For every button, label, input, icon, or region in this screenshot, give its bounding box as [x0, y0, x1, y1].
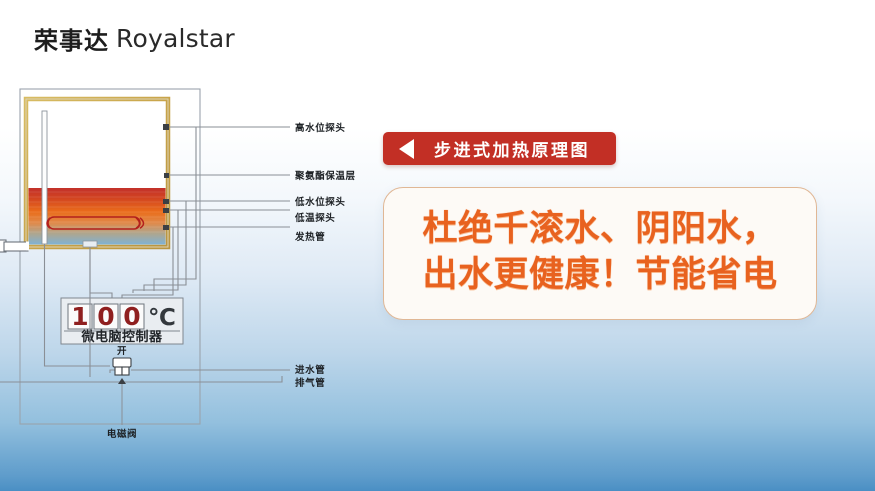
faucet-outlet-pipe	[26, 242, 29, 251]
headline-line-1: 杜绝千滚水、阴阳水，	[400, 207, 800, 253]
heating-principle-diagram: 1 0 0 ℃ 微电脑控制器 开水龙头 高水位探头 聚氨酯保温层 低水位探头 低…	[0, 80, 380, 460]
label-high-level-probe: 高水位探头	[295, 122, 346, 134]
label-heating-tube: 发热管	[294, 231, 325, 243]
ribbon-label: 步进式加热原理图	[434, 136, 590, 161]
high-level-probe-marker	[163, 124, 169, 130]
dip-tube	[42, 111, 47, 244]
brand-logo-en: Royalstar	[116, 24, 235, 53]
controller-module: 1 0 0 ℃ 微电脑控制器	[61, 298, 183, 345]
controller-unit: ℃	[148, 305, 176, 331]
right-panel: 步进式加热原理图 杜绝千滚水、阴阳水， 出水更健康！节能省电	[383, 132, 853, 320]
label-solenoid-valve: 电磁阀	[107, 428, 137, 440]
low-temp-probe-marker	[163, 208, 169, 213]
valve-arrow-up	[118, 378, 126, 384]
wire-drain	[90, 247, 112, 298]
drain-fitting	[83, 241, 97, 247]
triangle-left-icon	[399, 139, 414, 159]
label-valve-open: 开	[117, 346, 127, 357]
controller-digit-3: 0	[123, 302, 140, 331]
insulation-marker	[164, 173, 169, 178]
section-ribbon: 步进式加热原理图	[383, 132, 616, 165]
headline-card: 杜绝千滚水、阴阳水， 出水更健康！节能省电	[383, 187, 817, 320]
brand-logo: 荣事达 Royalstar	[34, 21, 235, 56]
label-insulation: 聚氨酯保温层	[294, 170, 356, 182]
controller-caption: 微电脑控制器	[80, 329, 163, 345]
controller-digit-2: 0	[97, 302, 114, 331]
controller-digit-1: 1	[71, 302, 88, 331]
low-level-probe-marker	[163, 199, 169, 204]
label-low-temp-probe: 低温探头	[294, 212, 335, 224]
exhaust-pipe-line	[0, 376, 282, 382]
label-inlet-pipe: 进水管	[295, 364, 325, 376]
solenoid-valve-symbol	[113, 358, 131, 375]
label-low-level-probe: 低水位探头	[294, 196, 346, 208]
heating-tube-marker	[163, 225, 169, 230]
label-exhaust-pipe: 排气管	[295, 377, 325, 389]
brand-logo-cn: 荣事达	[34, 21, 109, 56]
headline-line-2: 出水更健康！节能省电	[400, 253, 800, 299]
